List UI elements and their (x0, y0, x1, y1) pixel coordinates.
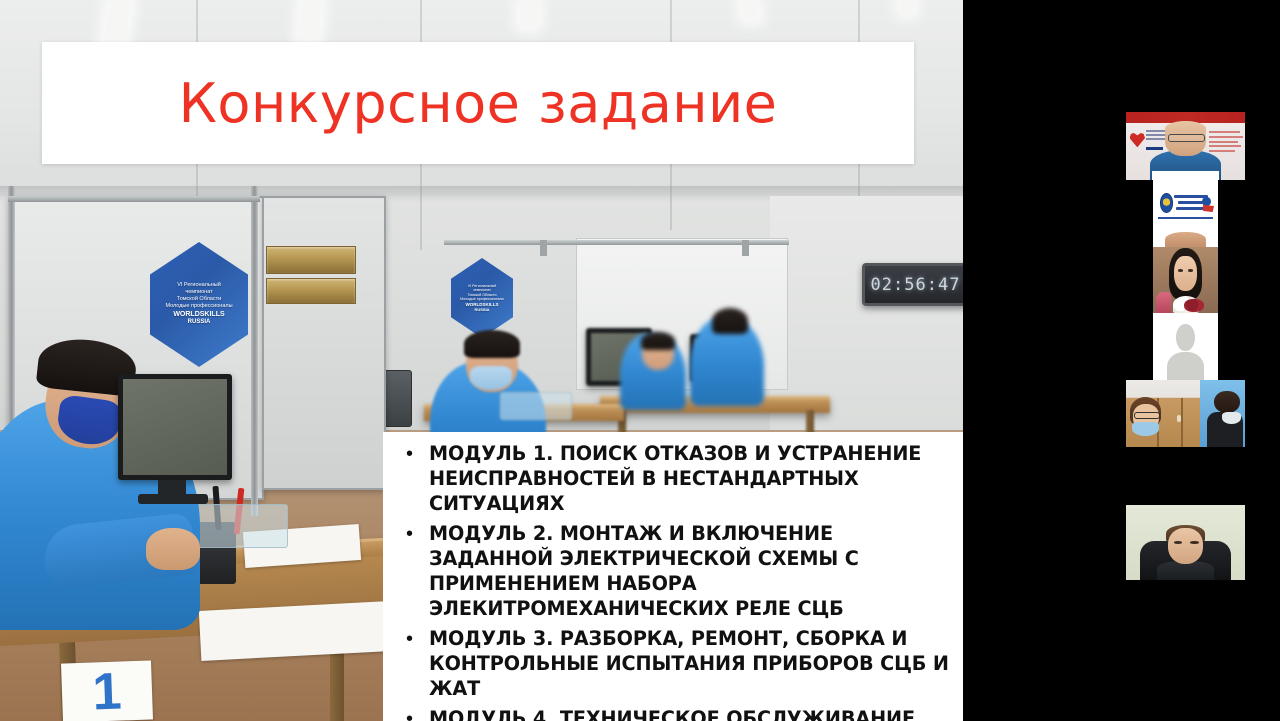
relay-rack-post (251, 186, 258, 516)
bullet-marker: • (397, 521, 429, 547)
whiteboard-rail (444, 240, 789, 245)
banner-line-1: VI Региональный (177, 282, 221, 289)
bullet-text: МОДУЛЬ 3. РАЗБОРКА, РЕМОНТ, СБОРКА И КОН… (429, 626, 949, 701)
banner-text-line (1209, 145, 1241, 147)
tile-person-face (1165, 232, 1207, 247)
workstation-number-sign: 1 (61, 660, 153, 721)
whiteboard-rail-bracket (540, 240, 547, 256)
participant-tile-shared-document[interactable] (1153, 180, 1218, 247)
signalling-relay-block (266, 246, 356, 274)
tile-background-person (1156, 292, 1172, 313)
shared-presentation-slide[interactable]: 02:56:47 20 20 VI Региональный чемпионат… (0, 0, 963, 721)
organization-logo-icon (1160, 193, 1173, 212)
bullet-item: • МОДУЛЬ 2. МОНТАЖ И ВКЛЮЧЕНИЕ ЗАДАННОЙ … (397, 521, 949, 621)
monitor-screen (123, 379, 227, 475)
parts-box (500, 392, 572, 420)
tile-person2-head (1214, 391, 1240, 414)
student-rear-right-hair (712, 308, 748, 334)
signalling-relay-block (266, 278, 356, 304)
banner-line-3: Томской Области (177, 296, 221, 303)
monitor-foreground (118, 374, 232, 480)
banner-line-6: RUSSIA (188, 319, 211, 327)
cabinet-handle (1177, 415, 1181, 422)
banner-line-2: чемпионат (185, 289, 212, 296)
flower-bouquet-red (1184, 299, 1204, 312)
bullet-text: МОДУЛЬ 4. ТЕХНИЧЕСКОЕ ОБСЛУЖИВАНИЕ УСТРО… (429, 706, 949, 721)
participant-tile-man-glasses-banner[interactable] (1126, 112, 1245, 180)
banner-text-line (1146, 138, 1165, 140)
banner-line-4: Молодые профессионалы (165, 303, 232, 310)
flag-emblem-blue-icon (1202, 197, 1210, 206)
participant-tile-young-man-chair[interactable] (1126, 505, 1245, 580)
avatar-body-icon (1167, 352, 1203, 380)
page-title: Конкурсное задание (179, 72, 778, 135)
video-conference-screen: 02:56:47 20 20 VI Региональный чемпионат… (0, 0, 1280, 721)
banner-text-line (1146, 147, 1163, 150)
banner-text-line (1209, 141, 1238, 143)
banner-text-line (1209, 136, 1242, 138)
whiteboard-rail-bracket (742, 240, 749, 256)
countdown-clock-digits: 02:56:47 (871, 275, 961, 295)
relay-rack-rail (8, 196, 260, 202)
monitor-base (138, 494, 208, 504)
document-divider (1158, 217, 1213, 219)
bullet-marker: • (397, 626, 429, 652)
cabinet-seam (1181, 398, 1183, 447)
glasses-icon (1168, 134, 1206, 141)
student-middle-mask (470, 366, 512, 390)
bullet-text: МОДУЛЬ 2. МОНТАЖ И ВКЛЮЧЕНИЕ ЗАДАННОЙ ЭЛ… (429, 521, 949, 621)
bullet-item: • МОДУЛЬ 4. ТЕХНИЧЕСКОЕ ОБСЛУЖИВАНИЕ УСТ… (397, 706, 949, 721)
countdown-clock: 02:56:47 (862, 263, 963, 306)
banner-small-line-6: RUSSIA (474, 307, 489, 312)
tile-person-face (1174, 256, 1196, 290)
ceiling-light-strip (900, 0, 914, 14)
bullet-marker: • (397, 706, 429, 721)
tile-foreground-paper (1152, 171, 1219, 180)
ceiling-light-strip (298, 0, 321, 40)
workstation-number: 1 (92, 666, 123, 719)
student-rear-centre-hair (641, 332, 675, 350)
paper-sheet (199, 601, 391, 661)
document-text-line (1178, 201, 1204, 204)
relay-rack-centre (262, 196, 386, 490)
bullet-item: • МОДУЛЬ 3. РАЗБОРКА, РЕМОНТ, СБОРКА И К… (397, 626, 949, 701)
banner-text-line (1209, 150, 1235, 152)
bullet-text: МОДУЛЬ 1. ПОИСК ОТКАЗОВ И УСТРАНЕНИЕ НЕИ… (429, 441, 949, 516)
tile-person-eye (1174, 541, 1182, 544)
banner-text-line (1209, 131, 1240, 133)
participant-tile-two-people-office[interactable] (1126, 380, 1245, 447)
slide-title-band: Конкурсное задание (42, 42, 914, 164)
glasses-icon (1134, 412, 1160, 419)
ceiling-light-strip (520, 0, 538, 28)
parts-bin (190, 504, 288, 548)
bullet-item: • МОДУЛЬ 1. ПОИСК ОТКАЗОВ И УСТРАНЕНИЕ Н… (397, 441, 949, 516)
student-middle-hair (464, 330, 520, 358)
avatar-head-icon (1176, 324, 1194, 351)
slide-bullet-panel: • МОДУЛЬ 1. ПОИСК ОТКАЗОВ И УСТРАНЕНИЕ Н… (383, 432, 963, 721)
tile-person-face (1168, 528, 1204, 564)
student-foreground-hand (146, 528, 200, 570)
participant-tile-woman-flowers[interactable] (1153, 247, 1218, 313)
tile-person-eye (1190, 541, 1198, 544)
ceiling-light-strip (741, 0, 759, 20)
bullet-marker: • (397, 441, 429, 467)
participant-tile-avatar-placeholder[interactable] (1153, 313, 1218, 380)
participant-filmstrip[interactable] (963, 0, 1280, 721)
tile-person-eye (1178, 269, 1183, 272)
